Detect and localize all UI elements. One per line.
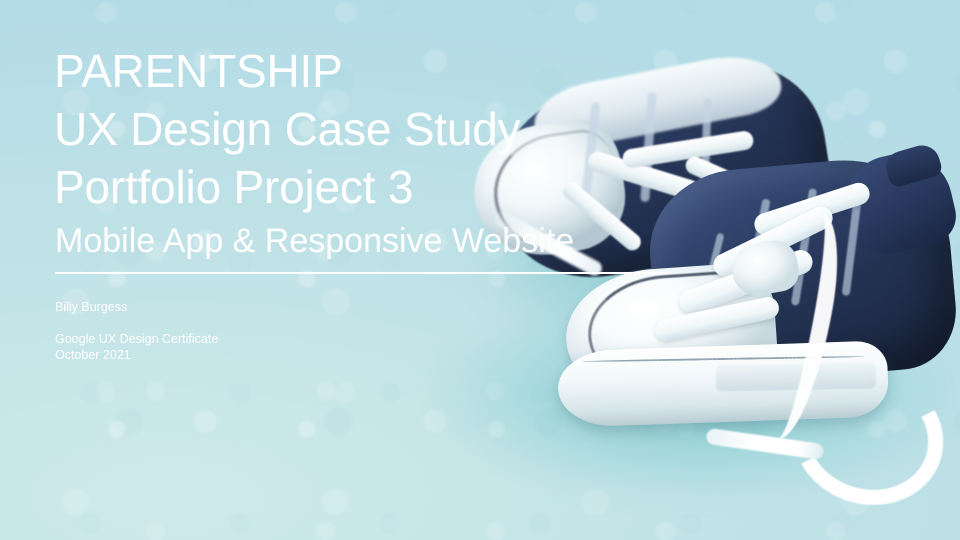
credit-date: October 2021	[55, 347, 218, 363]
slide-title: PARENTSHIP UX Design Case Study Portfoli…	[54, 42, 754, 216]
credit-program: Google UX Design Certificate	[55, 331, 218, 347]
title-line-1: PARENTSHIP	[54, 42, 754, 100]
slide-text-layer: PARENTSHIP UX Design Case Study Portfoli…	[0, 0, 960, 540]
title-line-3: Portfolio Project 3	[54, 158, 754, 216]
title-slide: PARENTSHIP UX Design Case Study Portfoli…	[0, 0, 960, 540]
title-line-2: UX Design Case Study	[54, 100, 754, 158]
credit-block: Google UX Design Certificate October 202…	[55, 331, 218, 363]
slide-subtitle: Mobile App & Responsive Website	[55, 220, 574, 262]
title-divider-rule	[55, 272, 665, 274]
author-name: Billy Burgess	[55, 299, 127, 316]
